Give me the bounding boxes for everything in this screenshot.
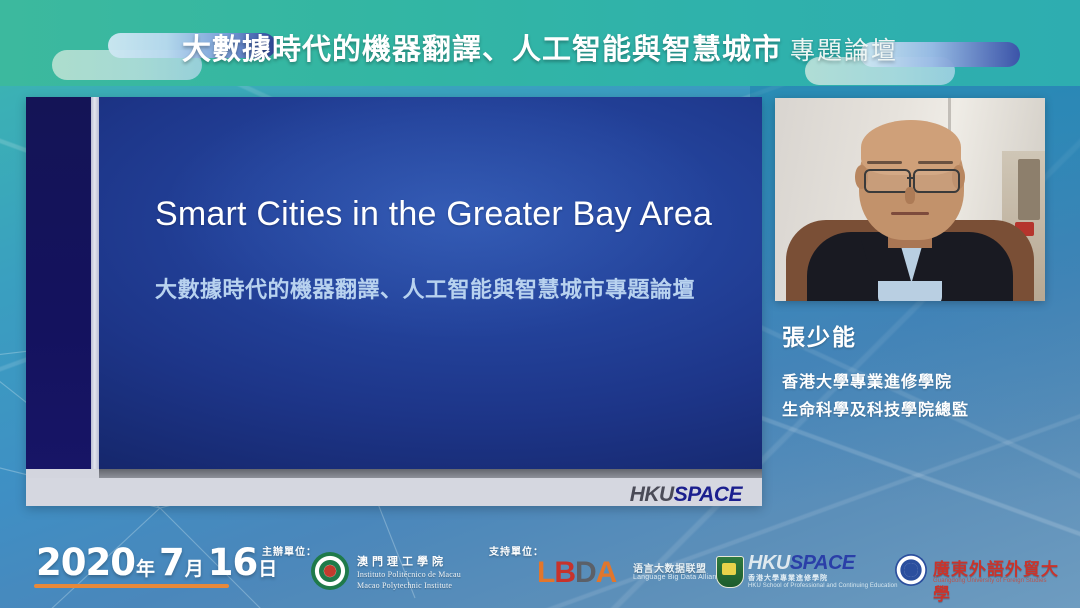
speaker-video-image <box>775 98 1045 301</box>
forum-title: 大數據時代的機器翻譯、人工智能與智慧城市專題論壇 <box>0 26 1080 68</box>
event-date-year: 2020 <box>36 541 135 584</box>
video-person-eyebrow-left <box>867 161 902 164</box>
slide-viewport[interactable]: Smart Cities in the Greater Bay Area 大數據… <box>26 97 762 506</box>
gdufs-crest-icon <box>895 554 927 586</box>
lbda-name-en: Language Big Data Alliance <box>633 574 724 581</box>
video-person-mouth <box>891 212 929 215</box>
event-date-month-unit: 月 <box>185 558 204 580</box>
video-person-eyebrow-right <box>918 161 953 164</box>
speaker-affiliation: 香港大學專業進修學院 <box>782 368 952 392</box>
lbda-letter-d: D <box>575 556 596 589</box>
hku-crest-icon <box>716 556 744 588</box>
speaker-title: 生命科學及科技學院總監 <box>782 396 969 420</box>
hkuspace-logo: HKUSPACE <box>630 483 742 506</box>
slide-subtitle: 大數據時代的機器翻譯、人工智能與智慧城市專題論壇 <box>155 272 695 304</box>
hku-space-word-space: SPACE <box>790 552 855 574</box>
video-person-scalp <box>861 120 961 175</box>
speaker-name: 張少能 <box>782 318 857 352</box>
lbda-letter-a: A <box>596 556 617 589</box>
event-date-day-unit: 日 <box>258 558 277 580</box>
hku-space-wordmark: HKUSPACE <box>748 552 855 575</box>
lbda-logo: LBDA 语言大数据联盟 Language Big Data Alliance <box>537 556 727 590</box>
video-person-glasses-left <box>864 169 911 193</box>
lbda-letter-b: B <box>554 556 575 589</box>
gdufs-logo: 廣東外語外貿大學 Guangdong University of Foreign… <box>895 552 1075 592</box>
event-date-year-unit: 年 <box>136 558 155 580</box>
video-person-glasses-right <box>913 169 960 193</box>
event-date-underline <box>34 584 229 588</box>
forum-title-suffix: 專題論壇 <box>790 36 898 65</box>
lbda-letter-l: L <box>537 556 554 589</box>
hkuspace-logo-space: SPACE <box>674 483 742 506</box>
lbda-name-cn: 语言大数据联盟 <box>633 560 707 575</box>
mpi-crest-icon <box>311 552 349 590</box>
support-label: 支持單位： <box>489 543 544 558</box>
presentation-stage: 大數據時代的機器翻譯、人工智能與智慧城市專題論壇 Smart Cities in… <box>0 0 1080 608</box>
gdufs-name-en: Guangdong University of Foreign Studies <box>933 578 1047 584</box>
slide-shadow-bar <box>99 469 762 478</box>
event-date: 2020年7月16日 <box>36 541 281 584</box>
hku-space-footer-logo: HKUSPACE 香港大學專業進修學院 HKU School of Profes… <box>716 552 886 594</box>
event-date-month: 7 <box>159 541 184 584</box>
hku-space-name-cn: 香港大學專業進修學院 <box>748 573 828 583</box>
forum-title-main: 大數據時代的機器翻譯、人工智能與智慧城市 <box>182 32 782 66</box>
hku-space-name-en: HKU School of Professional and Continuin… <box>748 583 898 589</box>
video-person-glasses-bridge <box>907 177 915 179</box>
hku-space-word-hku: HKU <box>748 552 790 574</box>
slide-title: Smart Cities in the Greater Bay Area <box>155 195 712 234</box>
slide-divider <box>91 97 99 469</box>
event-date-day: 16 <box>208 541 258 584</box>
video-person-nose <box>905 187 916 203</box>
video-side-object <box>1018 159 1040 220</box>
lbda-wordmark: LBDA <box>537 556 616 590</box>
macao-polytechnic-institute-logo: 澳門理工學院 Instituto Politécnico de Macau Ma… <box>311 548 491 594</box>
mpi-name-en: Macao Polytechnic Institute <box>357 581 452 590</box>
slide-left-band <box>26 97 91 469</box>
slide-footer-bar: HKUSPACE <box>26 478 762 506</box>
mpi-name-pt: Instituto Politécnico de Macau <box>357 570 461 579</box>
slide-content-area: Smart Cities in the Greater Bay Area 大數據… <box>99 97 762 469</box>
mpi-name-cn: 澳門理工學院 <box>357 553 447 569</box>
hkuspace-logo-hku: HKU <box>630 483 674 506</box>
host-label: 主辦單位： <box>262 543 317 558</box>
speaker-video-tile[interactable] <box>775 98 1045 301</box>
